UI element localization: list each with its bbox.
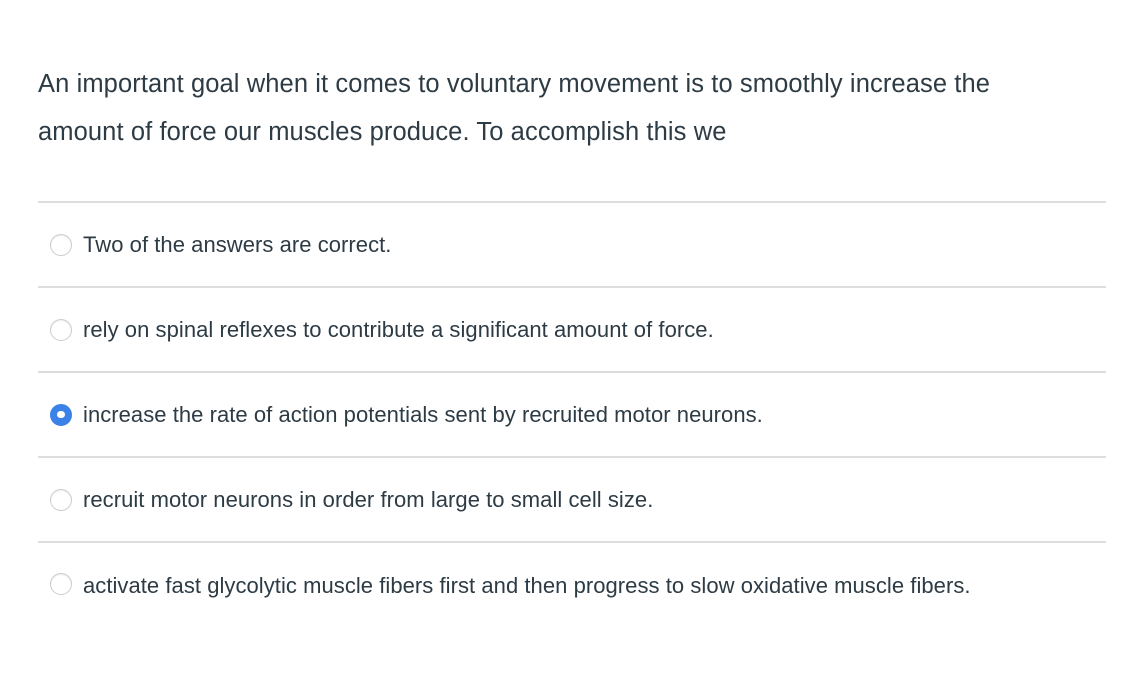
question-stem-text: An important goal when it comes to volun… [38, 60, 1073, 156]
answer-option-row-selected[interactable]: increase the rate of action potentials s… [38, 371, 1106, 456]
radio-button-wrapper[interactable] [38, 565, 83, 595]
radio-unselected-icon[interactable] [50, 319, 72, 341]
answer-option-row[interactable]: recruit motor neurons in order from larg… [38, 456, 1106, 541]
radio-unselected-icon[interactable] [50, 234, 72, 256]
answer-options-list: Two of the answers are correct. rely on … [38, 201, 1106, 651]
radio-button-wrapper[interactable] [38, 319, 83, 341]
radio-button-wrapper[interactable] [38, 489, 83, 511]
answer-option-label: rely on spinal reflexes to contribute a … [83, 309, 1106, 350]
answer-option-label: activate fast glycolytic muscle fibers f… [83, 565, 1106, 606]
radio-unselected-icon[interactable] [50, 489, 72, 511]
radio-unselected-icon[interactable] [50, 573, 72, 595]
answer-option-label: recruit motor neurons in order from larg… [83, 479, 1106, 520]
answer-option-row[interactable]: rely on spinal reflexes to contribute a … [38, 286, 1106, 371]
answer-option-label: Two of the answers are correct. [83, 224, 1106, 265]
answer-option-label: increase the rate of action potentials s… [83, 394, 1106, 435]
radio-selected-icon[interactable] [50, 404, 72, 426]
radio-button-wrapper[interactable] [38, 234, 83, 256]
answer-option-row[interactable]: Two of the answers are correct. [38, 201, 1106, 286]
answer-option-row[interactable]: activate fast glycolytic muscle fibers f… [38, 541, 1106, 651]
quiz-question-container: An important goal when it comes to volun… [0, 0, 1146, 694]
radio-button-wrapper[interactable] [38, 404, 83, 426]
